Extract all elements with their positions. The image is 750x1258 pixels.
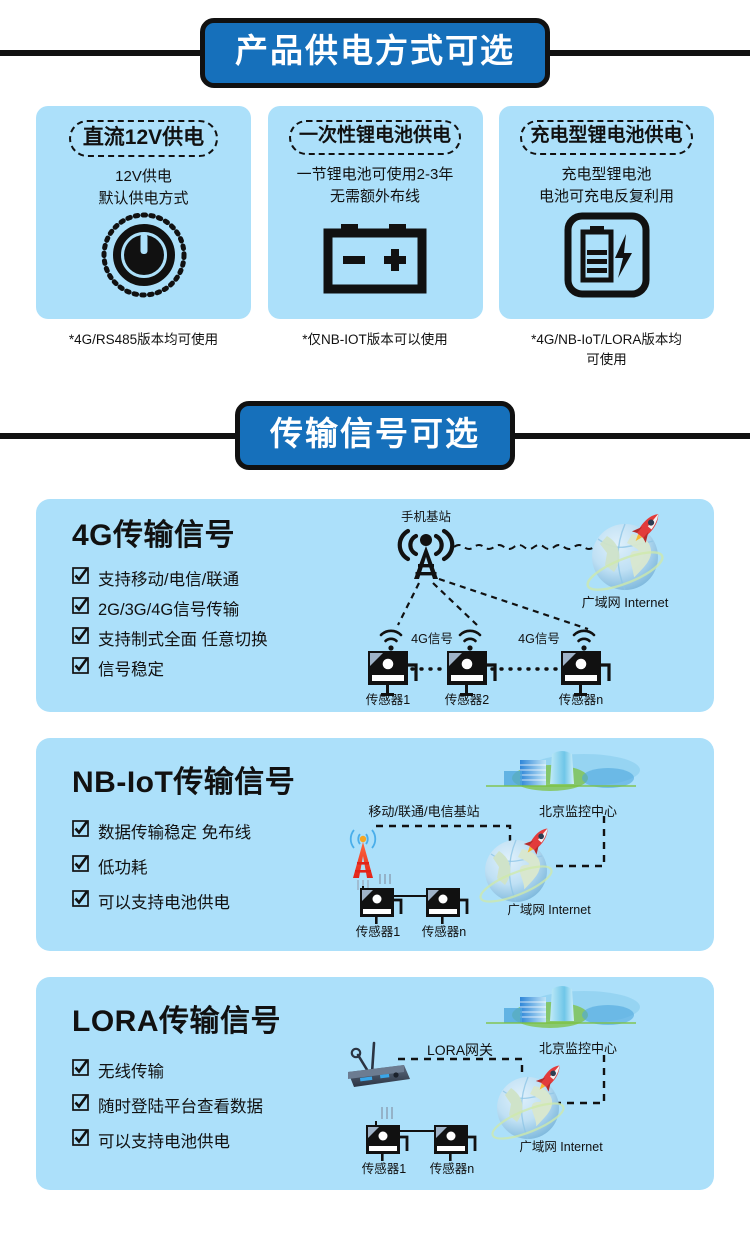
- cell-tower-icon: [351, 830, 376, 890]
- signal-title: LORA传输信号: [72, 1005, 336, 1038]
- sensor-label: 传感器n: [430, 1161, 475, 1176]
- power-desc-line: 默认供电方式: [98, 188, 188, 210]
- sensor-label: 传感器1: [362, 1161, 407, 1176]
- gateway-label: LORA网关: [427, 1042, 493, 1058]
- feature-item: 数据传输稳定 免布线: [72, 819, 336, 843]
- city-skyline-illustration: [486, 751, 640, 791]
- feature-label: 2G/3G/4G信号传输: [98, 596, 239, 620]
- signal-label: 4G信号: [518, 632, 560, 646]
- checkbox-checked-icon: [72, 567, 89, 589]
- power-card: 直流12V供电 12V供电 默认供电方式: [36, 106, 251, 319]
- diagram-nbiot-network-topology: 移动/联通/电信基站 北京监控中心: [336, 738, 714, 951]
- feature-label: 无线传输: [98, 1058, 164, 1082]
- checkbox-checked-icon: [72, 820, 89, 842]
- checkbox-checked-icon: [72, 855, 89, 877]
- diagram-4g-network-topology: 手机基站: [336, 499, 714, 712]
- feature-item: 支持制式全面 任意切换: [72, 626, 336, 650]
- feature-list: 无线传输 随时登陆平台查看数据 可以支持电池供电: [72, 1058, 336, 1152]
- feature-item: 可以支持电池供电: [72, 889, 336, 913]
- sensor-label: 传感器1: [366, 692, 411, 707]
- feature-label: 随时登陆平台查看数据: [98, 1093, 263, 1117]
- feature-label: 支持移动/电信/联通: [98, 566, 239, 590]
- sensor-label: 传感器2: [445, 692, 490, 707]
- power-option-pill: 直流12V供电: [69, 120, 218, 157]
- signal-card-lora-text: LORA传输信号 无线传输 随时登陆平台查看数据 可以支持电池供电: [36, 977, 336, 1190]
- internet-label: 广域网 Internet: [519, 1140, 603, 1154]
- base-station-label: 手机基站: [401, 510, 451, 524]
- power-desc-line: 12V供电: [98, 166, 188, 188]
- monitoring-center-label: 北京监控中心: [539, 804, 617, 819]
- feature-item: 随时登陆平台查看数据: [72, 1093, 336, 1117]
- signal-section-banner: 传输信号可选: [0, 393, 750, 479]
- feature-label: 低功耗: [98, 854, 148, 878]
- power-card: 一次性锂电池供电 一节锂电池可使用2-3年 无需额外布线: [268, 106, 483, 319]
- power-option-desc: 12V供电 默认供电方式: [98, 166, 188, 210]
- signal-card-lora[interactable]: LORA传输信号 无线传输 随时登陆平台查看数据 可以支持电池供电: [36, 977, 714, 1190]
- power-option-primary-lithium[interactable]: 一次性锂电池供电 一节锂电池可使用2-3年 无需额外布线 *仅NB-IOT版本可…: [268, 106, 483, 371]
- power-note-line: 可使用: [531, 350, 682, 370]
- wifi-dot: [388, 645, 586, 650]
- power-note-line: *4G/RS485版本均可使用: [69, 330, 218, 350]
- internet-label: 广域网 Internet: [582, 595, 669, 610]
- power-button-icon: [101, 212, 187, 303]
- sensor-label: 传感器n: [422, 924, 467, 939]
- globe-icon: [489, 1077, 568, 1145]
- car-battery-icon: [323, 220, 427, 303]
- rechargeable-battery-icon: [564, 212, 650, 303]
- city-skyline-illustration: [486, 986, 640, 1028]
- power-section-title: 产品供电方式可选: [200, 18, 550, 88]
- signal-section-title: 传输信号可选: [235, 401, 515, 471]
- power-option-desc: 一节锂电池可使用2-3年 无需额外布线: [297, 164, 454, 208]
- feature-item: 低功耗: [72, 854, 336, 878]
- signal-card-4g[interactable]: 4G传输信号 支持移动/电信/联通 2G/3G/4G信号传输 支持制式全面 任意…: [36, 499, 714, 712]
- sensor-device-icon: [368, 651, 609, 696]
- feature-label: 可以支持电池供电: [98, 1128, 230, 1152]
- power-note-line: *仅NB-IOT版本可以使用: [302, 330, 448, 350]
- power-section-banner: 产品供电方式可选: [0, 10, 750, 96]
- base-station-label: 移动/联通/电信基站: [368, 804, 479, 819]
- sensor-label: 传感器n: [559, 692, 604, 707]
- power-option-note: *4G/RS485版本均可使用: [69, 330, 218, 350]
- power-options-row: 直流12V供电 12V供电 默认供电方式: [0, 106, 750, 371]
- checkbox-checked-icon: [72, 1094, 89, 1116]
- feature-item: 支持移动/电信/联通: [72, 566, 336, 590]
- checkbox-checked-icon: [72, 657, 89, 679]
- feature-list: 数据传输稳定 免布线 低功耗 可以支持电池供电: [72, 819, 336, 913]
- feature-item: 信号稳定: [72, 656, 336, 680]
- feature-item: 2G/3G/4G信号传输: [72, 596, 336, 620]
- feature-label: 信号稳定: [98, 656, 164, 680]
- feature-label: 可以支持电池供电: [98, 889, 230, 913]
- power-option-desc: 充电型锂电池 电池可充电反复利用: [539, 164, 674, 208]
- feature-item: 可以支持电池供电: [72, 1128, 336, 1152]
- power-note-line: *4G/NB-IoT/LORA版本均: [531, 330, 682, 350]
- sensor-label: 传感器1: [356, 924, 401, 939]
- power-option-dc12v[interactable]: 直流12V供电 12V供电 默认供电方式: [36, 106, 251, 371]
- diagram-lora-network-topology: LORA网关 北京监控中心: [336, 977, 714, 1190]
- feature-label: 支持制式全面 任意切换: [98, 626, 268, 650]
- antenna-lines: [380, 874, 390, 884]
- checkbox-checked-icon: [72, 1129, 89, 1151]
- tower-to-internet-link: [454, 545, 604, 549]
- power-desc-line: 一节锂电池可使用2-3年: [297, 164, 454, 186]
- power-desc-line: 电池可充电反复利用: [539, 186, 674, 208]
- checkbox-checked-icon: [72, 627, 89, 649]
- feature-item: 无线传输: [72, 1058, 336, 1082]
- signal-title: 4G传输信号: [72, 519, 336, 552]
- feature-list: 支持移动/电信/联通 2G/3G/4G信号传输 支持制式全面 任意切换 信号稳定: [72, 566, 336, 680]
- power-desc-line: 无需额外布线: [297, 186, 454, 208]
- signal-card-4g-text: 4G传输信号 支持移动/电信/联通 2G/3G/4G信号传输 支持制式全面 任意…: [36, 499, 336, 712]
- power-option-pill: 一次性锂电池供电: [289, 120, 461, 155]
- power-desc-line: 充电型锂电池: [539, 164, 674, 186]
- internet-label: 广域网 Internet: [507, 903, 591, 917]
- signal-label: 4G信号: [411, 632, 453, 646]
- lora-gateway-router-icon: [348, 1043, 410, 1087]
- sensor-device-icon: [360, 888, 467, 924]
- signal-card-nbiot-text: NB-IoT传输信号 数据传输稳定 免布线 低功耗 可以支持电池供电: [36, 738, 336, 951]
- power-option-rechargeable-lithium[interactable]: 充电型锂电池供电 充电型锂电池 电池可充电反复利用 *4G/NB-IoT/LOR…: [499, 106, 714, 371]
- checkbox-checked-icon: [72, 1059, 89, 1081]
- globe-icon: [583, 524, 666, 597]
- power-option-note: *4G/NB-IoT/LORA版本均 可使用: [531, 330, 682, 371]
- checkbox-checked-icon: [72, 890, 89, 912]
- tower-mast: [414, 534, 438, 579]
- power-option-note: *仅NB-IOT版本可以使用: [302, 330, 448, 350]
- antenna-lines: [382, 1107, 392, 1119]
- globe-icon: [477, 840, 556, 908]
- signal-title: NB-IoT传输信号: [72, 766, 336, 799]
- monitoring-center-label: 北京监控中心: [539, 1041, 617, 1056]
- checkbox-checked-icon: [72, 597, 89, 619]
- power-option-pill: 充电型锂电池供电: [520, 120, 692, 155]
- signal-card-nbiot[interactable]: NB-IoT传输信号 数据传输稳定 免布线 低功耗 可以支持电池供电: [36, 738, 714, 951]
- power-card: 充电型锂电池供电 充电型锂电池 电池可充电反复利用: [499, 106, 714, 319]
- feature-label: 数据传输稳定 免布线: [98, 819, 251, 843]
- tower-to-sensor-links: [398, 579, 588, 629]
